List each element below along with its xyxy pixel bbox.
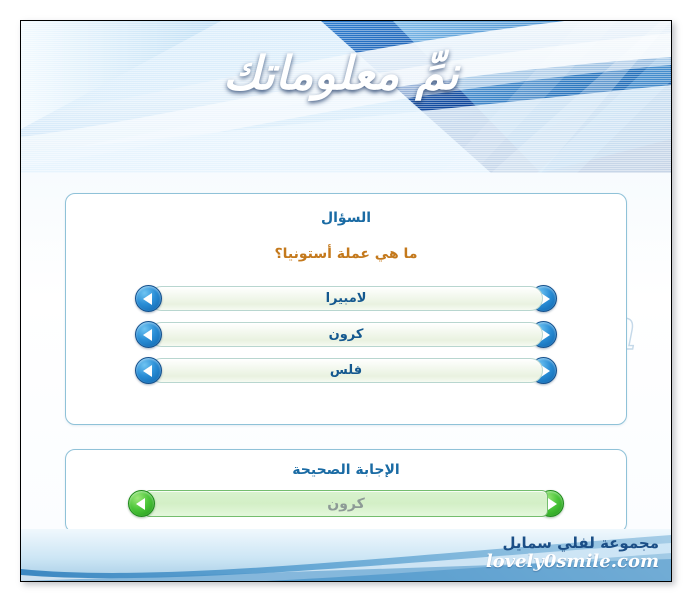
triangle-left-glyph xyxy=(143,365,152,377)
option-label: فلس xyxy=(330,363,362,378)
app-frame: نمِّ معلوماتك lovely0smile.com السؤال ما… xyxy=(0,0,692,602)
option-label: لامبيرا xyxy=(326,291,367,306)
triangle-left-glyph xyxy=(136,498,145,510)
play-left-icon[interactable] xyxy=(135,285,162,312)
quiz-card: نمِّ معلوماتك lovely0smile.com السؤال ما… xyxy=(20,20,672,582)
footer-brand-url: lovely0smile.com xyxy=(486,552,659,572)
play-left-icon[interactable] xyxy=(135,357,162,384)
footer-banner: مجموعة لفلي سمايل lovely0smile.com xyxy=(21,529,671,581)
answer-bar: كرون xyxy=(144,490,548,517)
triangle-left-glyph xyxy=(143,293,152,305)
footer-brand: مجموعة لفلي سمايل lovely0smile.com xyxy=(486,535,659,572)
header-banner: نمِّ معلوماتك xyxy=(21,21,671,173)
question-panel: السؤال ما هي عملة أستونيا؟ لامبيرا xyxy=(65,193,627,425)
answer-label: كرون xyxy=(327,496,365,512)
header-artwork xyxy=(21,21,671,173)
triangle-left-glyph xyxy=(143,329,152,341)
option-row[interactable]: لامبيرا xyxy=(135,286,557,311)
option-bar[interactable]: فلس xyxy=(149,358,543,383)
correct-answer-panel: الإجابة الصحيحة كرون xyxy=(65,449,627,533)
play-left-icon[interactable] xyxy=(128,490,155,517)
question-text: ما هي عملة أستونيا؟ xyxy=(66,246,626,262)
answer-panel-title: الإجابة الصحيحة xyxy=(66,462,626,478)
option-bar[interactable]: كرون xyxy=(149,322,543,347)
option-bar[interactable]: لامبيرا xyxy=(149,286,543,311)
triangle-right-glyph xyxy=(548,498,557,510)
footer-brand-arabic: مجموعة لفلي سمايل xyxy=(486,535,659,552)
option-label: كرون xyxy=(329,327,364,342)
question-panel-title: السؤال xyxy=(66,210,626,226)
answer-row: كرون xyxy=(128,490,564,517)
options-list: لامبيرا كرون xyxy=(66,286,626,383)
play-left-icon[interactable] xyxy=(135,321,162,348)
main-content: lovely0smile.com السؤال ما هي عملة أستون… xyxy=(21,173,671,529)
option-row[interactable]: كرون xyxy=(135,322,557,347)
option-row[interactable]: فلس xyxy=(135,358,557,383)
